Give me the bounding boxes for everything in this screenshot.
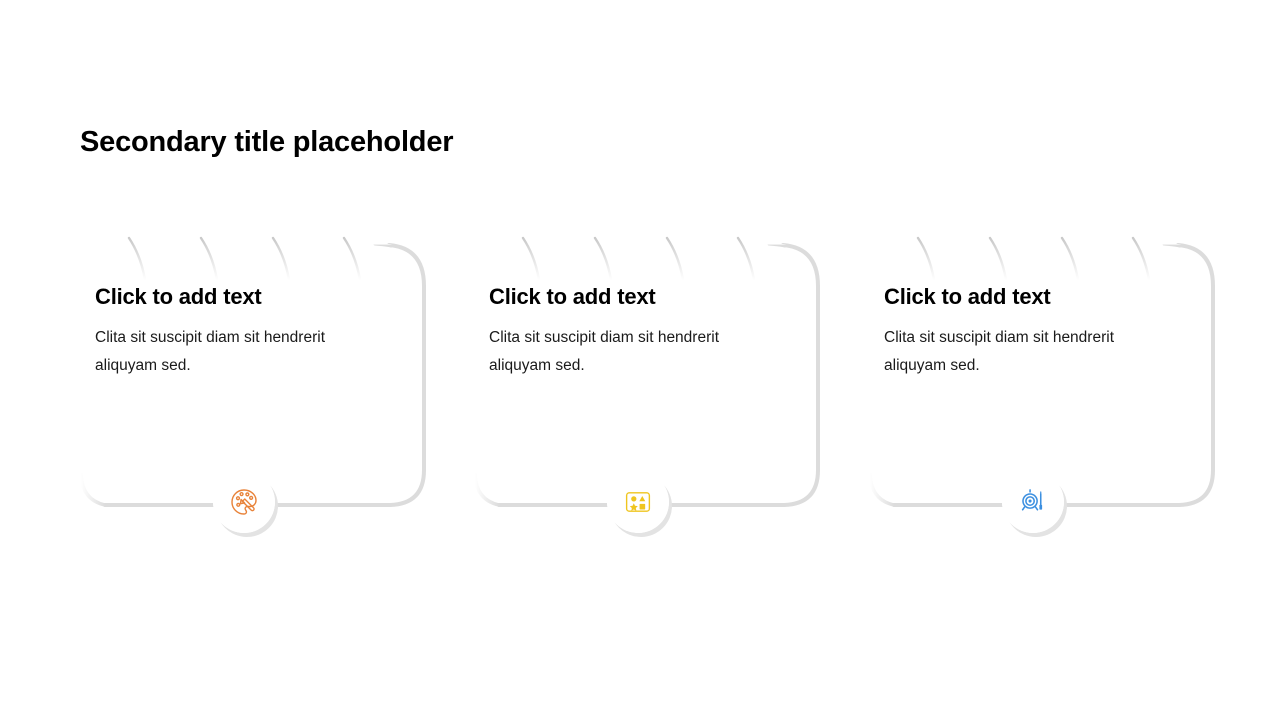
card-icon-badge[interactable]	[213, 471, 275, 533]
card-heading[interactable]: Click to add text	[884, 284, 1184, 310]
card-text-block: Click to add text Clita sit suscipit dia…	[489, 284, 789, 379]
card-row: Click to add text Clita sit suscipit dia…	[0, 236, 1280, 536]
info-card[interactable]: Click to add text Clita sit suscipit dia…	[473, 236, 821, 511]
card-description[interactable]: Clita sit suscipit diam sit hendrerit al…	[884, 324, 1174, 378]
card-text-block: Click to add text Clita sit suscipit dia…	[884, 284, 1184, 379]
card-heading[interactable]: Click to add text	[489, 284, 789, 310]
slide-canvas: Secondary title placeholder	[0, 0, 1280, 720]
page-title[interactable]: Secondary title placeholder	[80, 126, 453, 159]
card-icon-badge[interactable]	[1002, 471, 1064, 533]
card-icon-badge[interactable]	[607, 471, 669, 533]
card-heading[interactable]: Click to add text	[95, 284, 395, 310]
card-description[interactable]: Clita sit suscipit diam sit hendrerit al…	[95, 324, 385, 378]
card-description[interactable]: Clita sit suscipit diam sit hendrerit al…	[489, 324, 779, 378]
info-card[interactable]: Click to add text Clita sit suscipit dia…	[868, 236, 1216, 511]
card-text-block: Click to add text Clita sit suscipit dia…	[95, 284, 395, 379]
target-dart-icon	[1002, 471, 1064, 533]
info-card[interactable]: Click to add text Clita sit suscipit dia…	[79, 236, 427, 511]
palette-icon	[213, 471, 275, 533]
shapes-gallery-icon	[607, 471, 669, 533]
